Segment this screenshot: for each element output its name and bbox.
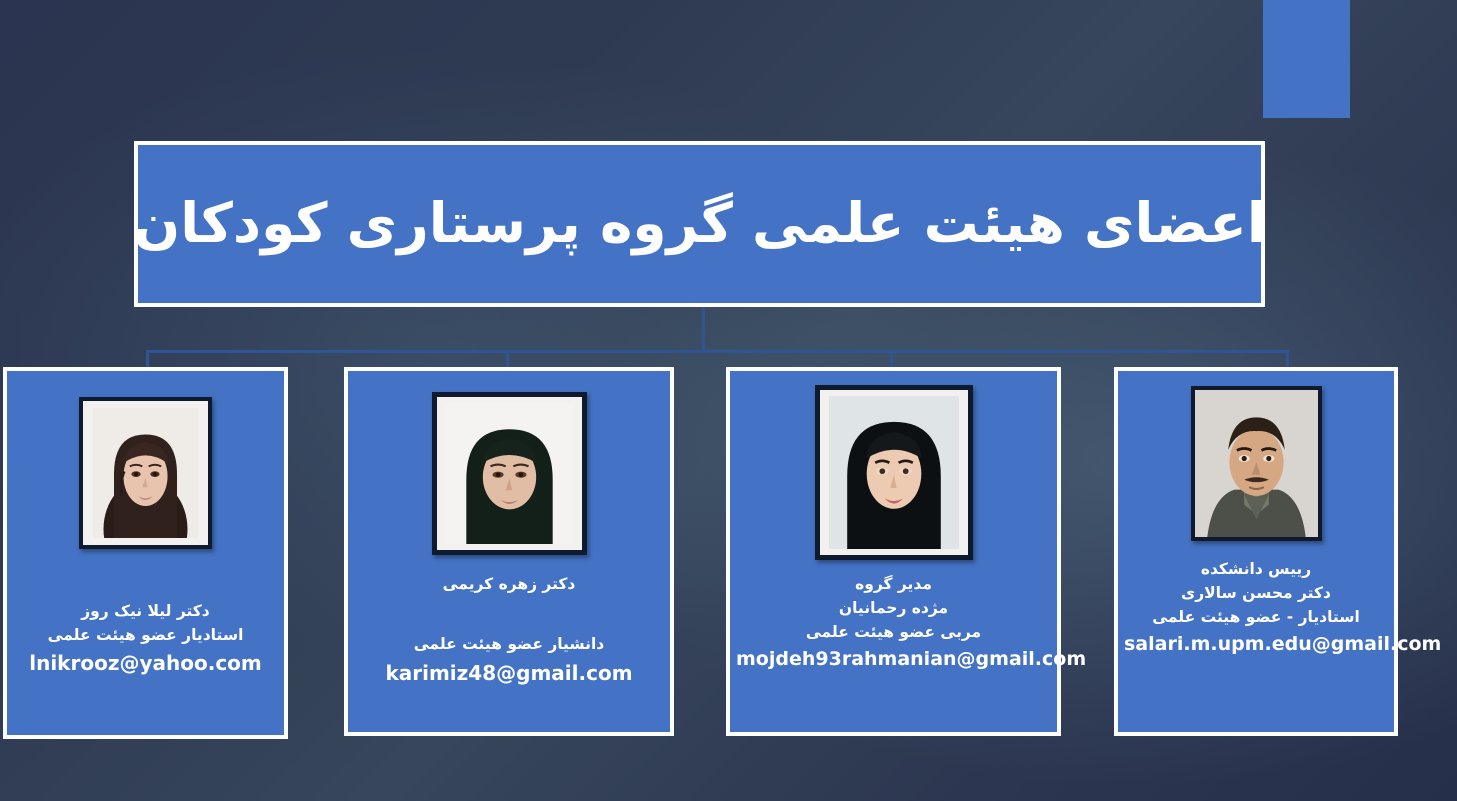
slide-title: اعضای هیئت علمی گروه پرستاری کودکان [133, 192, 1265, 255]
portrait-photo-4 [1195, 390, 1318, 537]
member-name-2: دکتر زهره کریمی [354, 572, 664, 596]
member-position-4: رییس دانشکده [1124, 557, 1388, 581]
member-name-1: دکتر لیلا نیک روز [13, 599, 278, 623]
member-info-3: مدیر گروه مژده رحمانیان مربی عضو هیئت عل… [730, 572, 1057, 673]
photo-mat-1 [83, 401, 208, 545]
member-name-3: مژده رحمانیان [736, 596, 1051, 620]
member-email-1[interactable]: lnikrooz@yahoo.com [13, 650, 278, 677]
member-card-3[interactable]: مدیر گروه مژده رحمانیان مربی عضو هیئت عل… [726, 367, 1061, 736]
accent-rectangle [1263, 0, 1350, 118]
portrait-photo-1 [93, 408, 198, 538]
photo-mat-4 [1195, 390, 1318, 537]
member-info-2: دکتر زهره کریمی دانشیار عضو هیئت علمی ka… [348, 572, 670, 687]
connector-stem [702, 307, 705, 352]
member-info-1: دکتر لیلا نیک روز استادیار عضو هیئت علمی… [7, 599, 284, 677]
member-email-4[interactable]: salari.m.upm.edu@gmail.com [1124, 632, 1388, 658]
member-info-4: رییس دانشکده دکتر محسن سالاری استادیار -… [1118, 557, 1394, 658]
member-email-2[interactable]: karimiz48@gmail.com [354, 660, 664, 687]
connector-horizontal-bar [146, 350, 1289, 353]
portrait-photo-2 [446, 403, 573, 544]
member-card-1[interactable]: دکتر لیلا نیک روز استادیار عضو هیئت علمی… [3, 367, 288, 739]
slide-title-box: اعضای هیئت علمی گروه پرستاری کودکان [134, 141, 1265, 307]
member-photo-frame-4 [1191, 386, 1322, 541]
member-name-4: دکتر محسن سالاری [1124, 581, 1388, 605]
member-role-4: استادیار - عضو هیئت علمی [1124, 605, 1388, 629]
member-role-1: استادیار عضو هیئت علمی [13, 623, 278, 647]
presentation-slide: اعضای هیئت علمی گروه پرستاری کودکان [0, 0, 1457, 801]
member-email-3[interactable]: mojdeh93rahmanian@gmail.com [736, 647, 1051, 673]
photo-mat-3 [820, 390, 968, 555]
member-role-3: مربی عضو هیئت علمی [736, 620, 1051, 644]
photo-mat-2 [437, 397, 582, 550]
member-card-2[interactable]: دکتر زهره کریمی دانشیار عضو هیئت علمی ka… [344, 367, 674, 736]
member-photo-frame-3 [815, 385, 973, 560]
member-photo-frame-1 [79, 397, 212, 549]
member-photo-frame-2 [432, 392, 587, 555]
member-role-2: دانشیار عضو هیئت علمی [354, 632, 664, 656]
member-card-4[interactable]: رییس دانشکده دکتر محسن سالاری استادیار -… [1114, 367, 1398, 736]
member-position-3: مدیر گروه [736, 572, 1051, 596]
portrait-photo-3 [829, 396, 959, 549]
